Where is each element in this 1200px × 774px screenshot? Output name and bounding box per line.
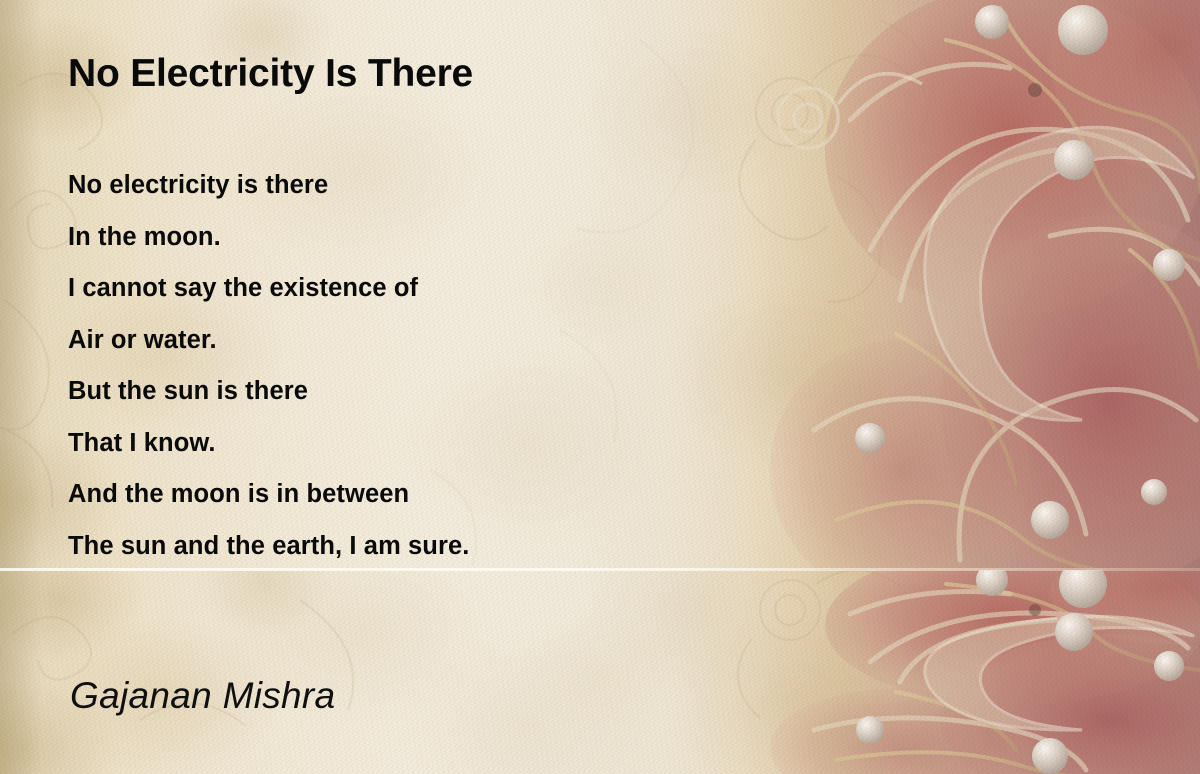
poem-line: In the moon. (68, 212, 469, 264)
poem-line: No electricity is there (68, 160, 469, 212)
poem-line: I cannot say the existence of (68, 263, 469, 315)
poem-panel: No Electricity Is There No electricity i… (0, 0, 1200, 570)
author-panel: Gajanan Mishra (0, 570, 1200, 774)
poem-line: But the sun is there (68, 366, 469, 418)
author-content: Gajanan Mishra (0, 570, 1200, 774)
poem-line: Air or water. (68, 315, 469, 367)
poem-body: No electricity is there In the moon. I c… (68, 160, 469, 570)
poem-card: No Electricity Is There No electricity i… (0, 0, 1200, 774)
poem-line: And the moon is in between (68, 469, 469, 521)
poem-content: No Electricity Is There No electricity i… (0, 0, 1200, 570)
poem-line: The sun and the earth, I am sure. (68, 521, 469, 571)
author-name: Gajanan Mishra (70, 675, 335, 717)
poem-line: That I know. (68, 418, 469, 470)
page-title: No Electricity Is There (68, 52, 473, 96)
